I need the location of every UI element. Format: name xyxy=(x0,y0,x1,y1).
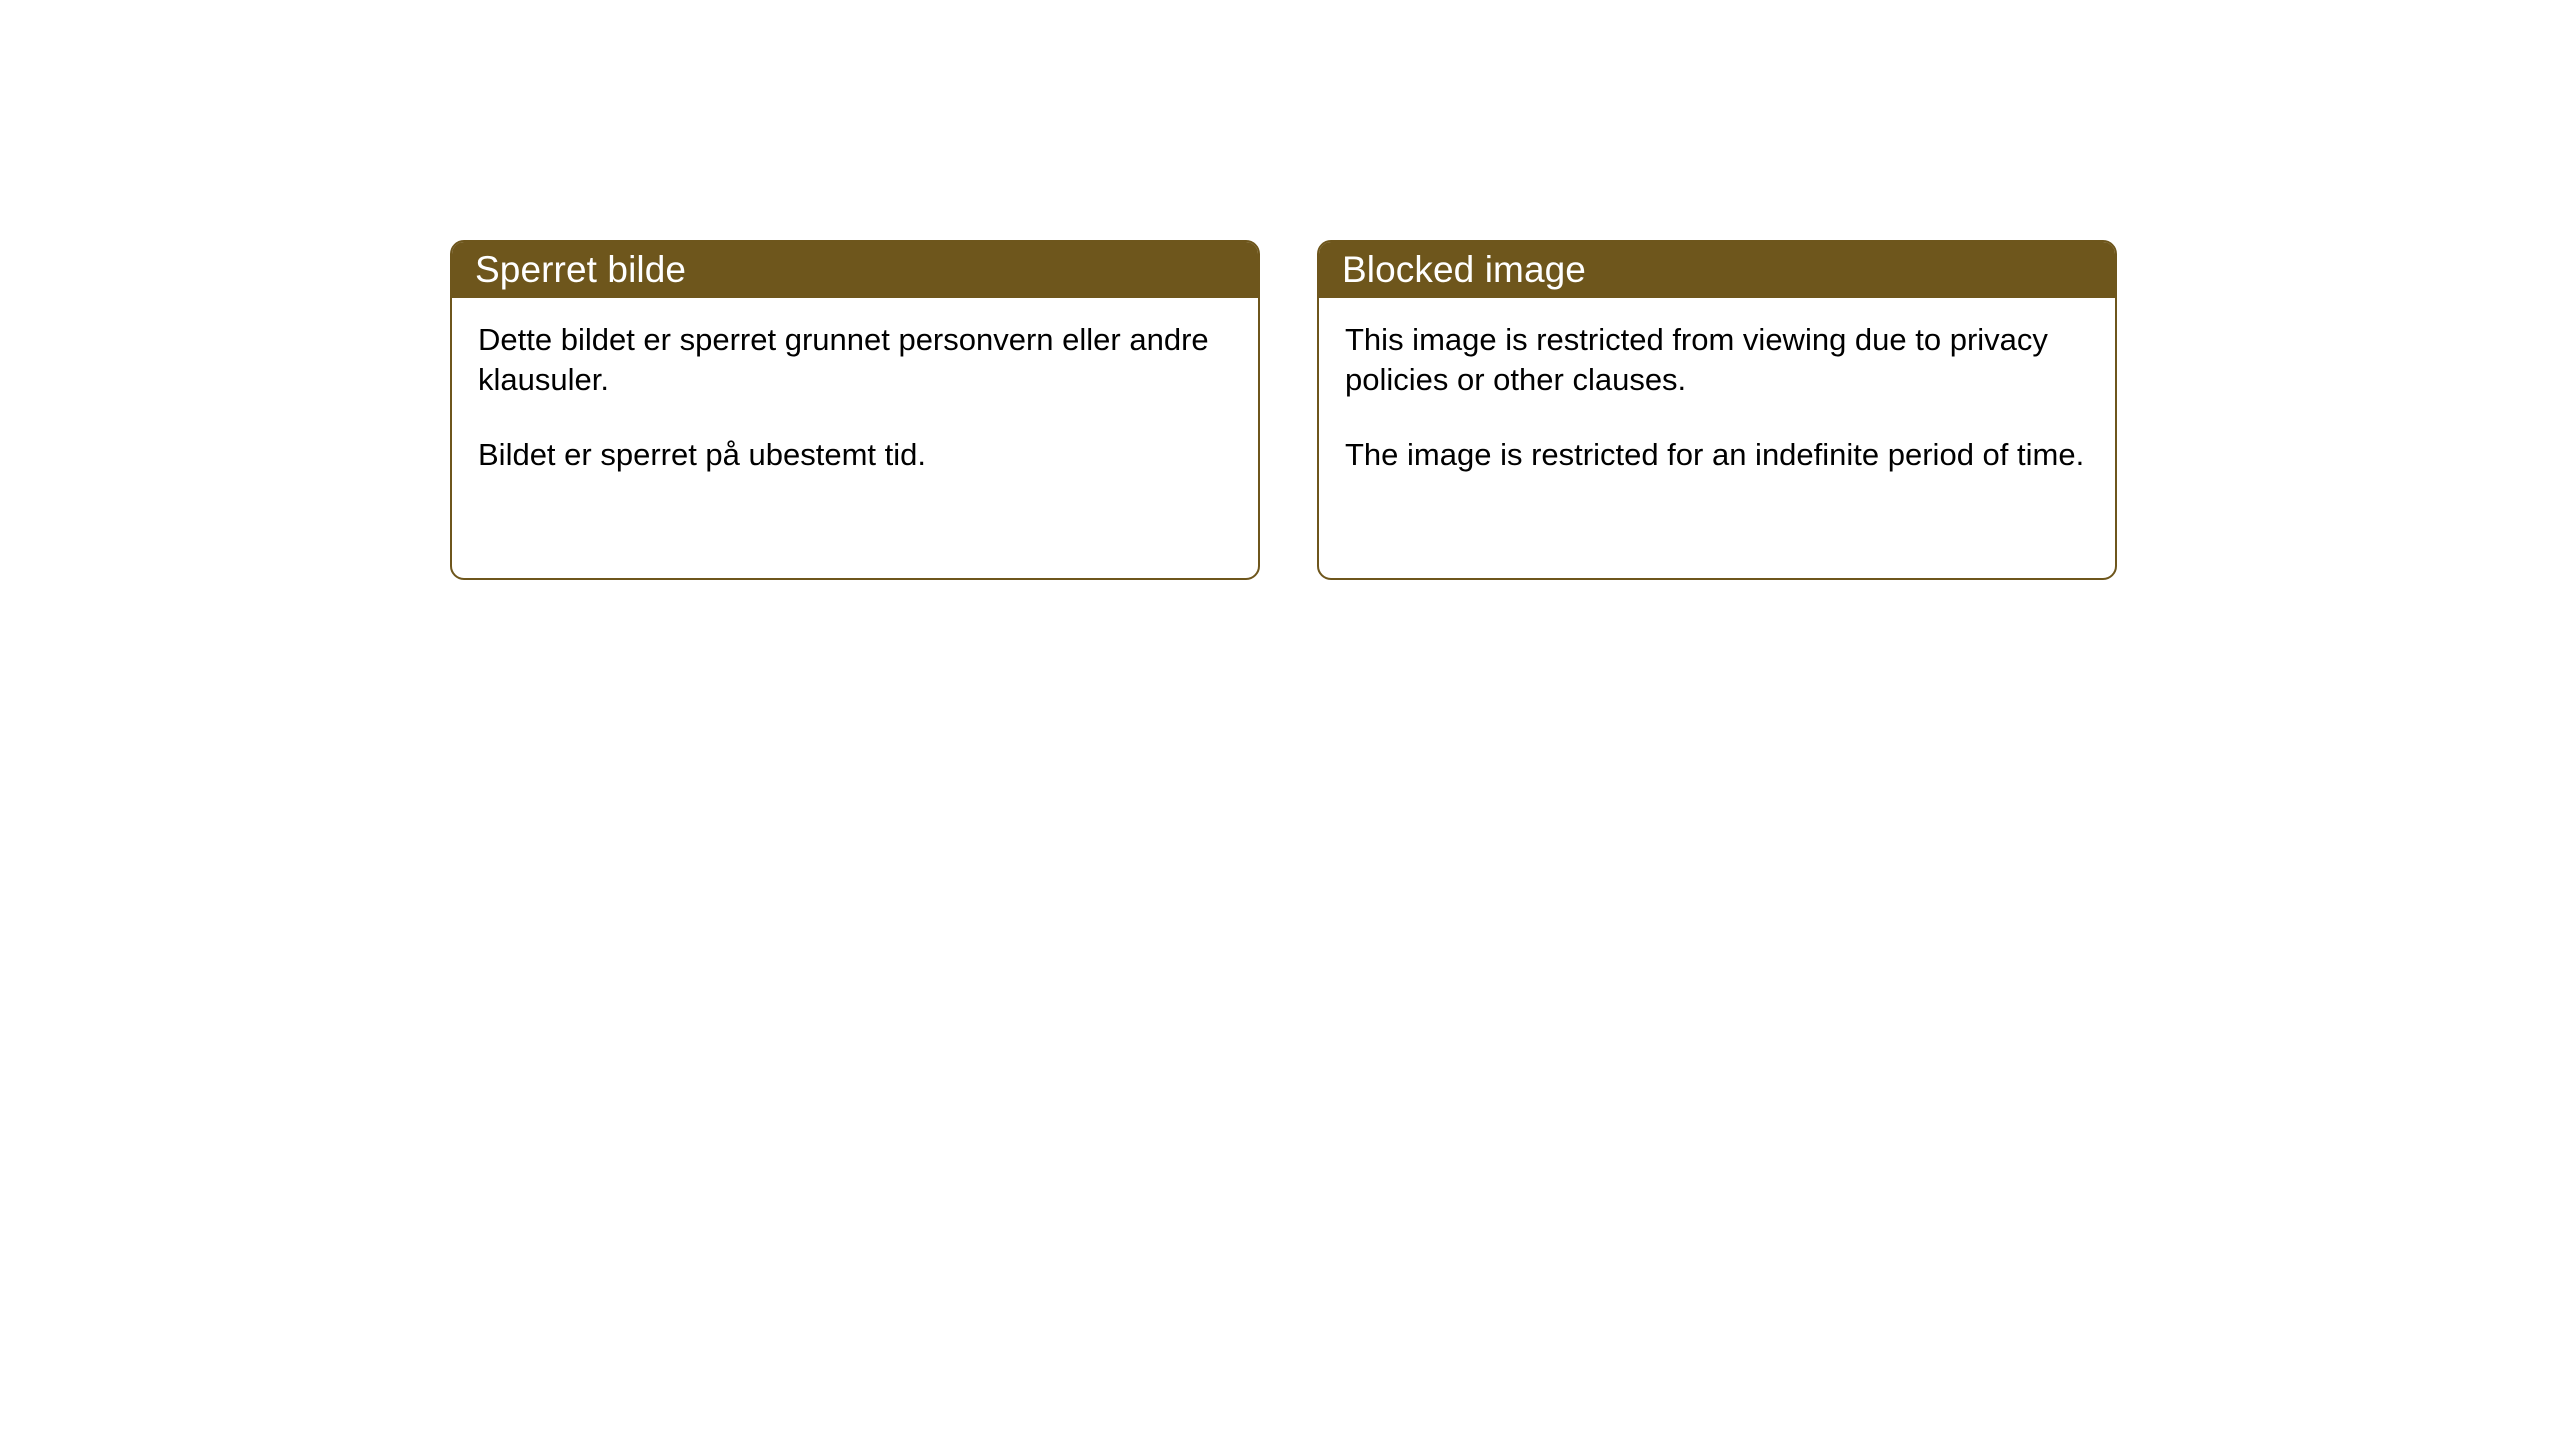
blocked-image-card-norwegian: Sperret bilde Dette bildet er sperret gr… xyxy=(450,240,1260,580)
card-header-norwegian: Sperret bilde xyxy=(450,240,1260,298)
card-body-norwegian: Dette bildet er sperret grunnet personve… xyxy=(452,298,1258,578)
card-paragraph-duration-english: The image is restricted for an indefinit… xyxy=(1345,435,2089,475)
card-paragraph-reason-english: This image is restricted from viewing du… xyxy=(1345,320,2089,401)
blocked-image-notice-area: Sperret bilde Dette bildet er sperret gr… xyxy=(450,240,2117,580)
card-title-norwegian: Sperret bilde xyxy=(475,251,686,288)
card-body-english: This image is restricted from viewing du… xyxy=(1319,298,2115,578)
blocked-image-card-english: Blocked image This image is restricted f… xyxy=(1317,240,2117,580)
card-title-english: Blocked image xyxy=(1342,251,1586,288)
card-paragraph-reason-norwegian: Dette bildet er sperret grunnet personve… xyxy=(478,320,1232,401)
card-paragraph-duration-norwegian: Bildet er sperret på ubestemt tid. xyxy=(478,435,1232,475)
card-header-english: Blocked image xyxy=(1317,240,2117,298)
